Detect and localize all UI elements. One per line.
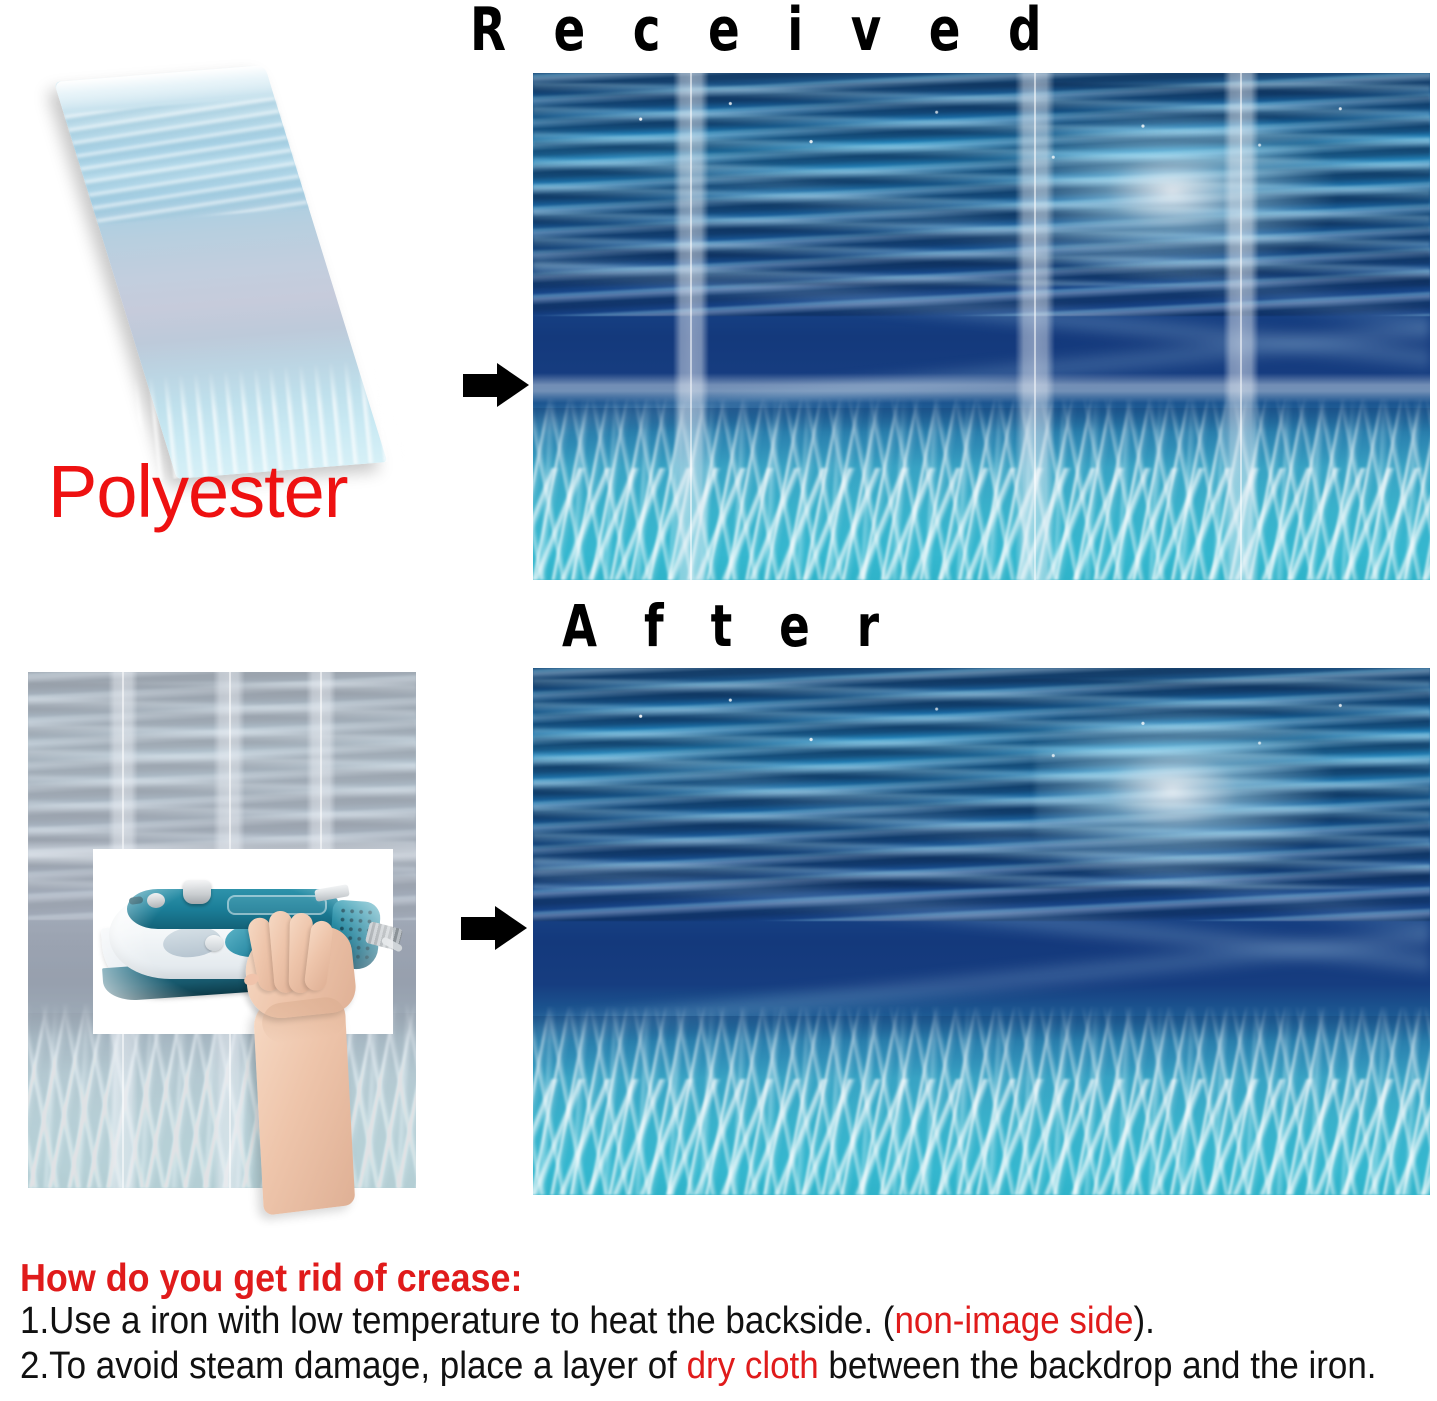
iron-temperature-knob [183,880,211,904]
step-2-post: between the backdrop and the iron. [819,1345,1377,1387]
step-1-highlight: non-image side [894,1300,1133,1342]
after-backdrop-photo [533,668,1430,1195]
step-1-pre: 1.Use a iron with low temperature to hea… [20,1300,894,1342]
seabed-caustics-alt [533,468,1430,580]
seabed-caustics-alt [533,1079,1430,1195]
iron-steam-dial [147,893,165,908]
instruction-step-2: 2.To avoid steam damage, place a layer o… [20,1344,1308,1389]
fabric-roll-ripple-texture [64,97,309,225]
bubbles [533,88,1430,260]
instructions-block: How do you get rid of crease: 1.Use a ir… [20,1258,1420,1389]
heading-received: R e c e i v e d [470,0,1057,60]
underwater-scene [533,668,1430,1195]
polyester-label: Polyester [48,455,347,529]
fabric-roll-photo [20,82,392,492]
step-2-highlight: dry cloth [687,1345,819,1387]
step-2-pre: 2.To avoid steam damage, place a layer o… [20,1345,687,1387]
arrow-head [497,363,529,407]
arrow-head [495,906,527,950]
hand-icon [210,930,420,1210]
received-backdrop-photo [533,73,1430,580]
fabric-roll-sheet [54,65,387,479]
instructions-question: How do you get rid of crease: [20,1258,1308,1299]
instruction-step-1: 1.Use a iron with low temperature to hea… [20,1299,1308,1344]
step-1-post: ). [1133,1300,1154,1342]
bubbles [533,684,1430,863]
underwater-scene [533,73,1430,580]
heading-after: A f t e r [562,597,895,655]
